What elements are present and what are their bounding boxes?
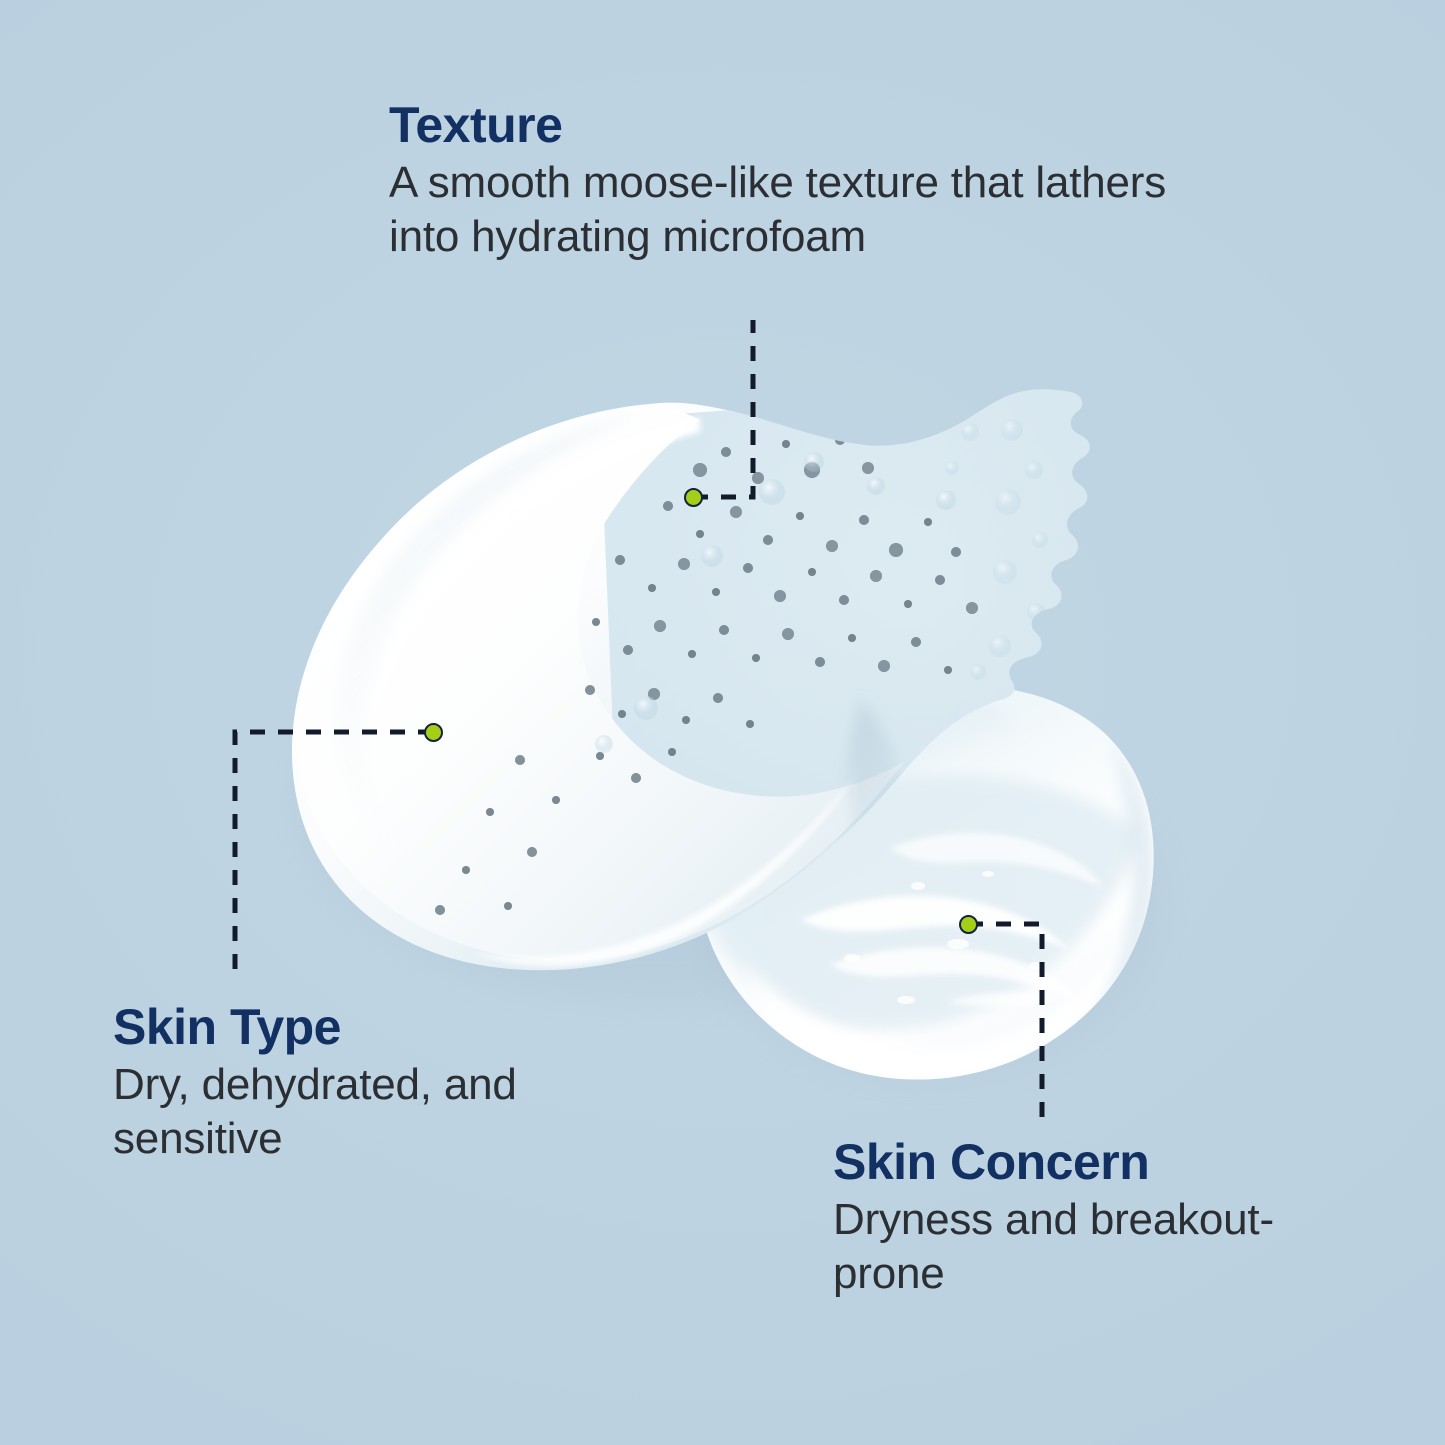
callout-texture-body: A smooth moose-like texture that lathers…	[389, 156, 1209, 263]
callout-skin-concern-heading: Skin Concern	[833, 1137, 1333, 1187]
callout-skin-type: Skin Type Dry, dehydrated, and sensitive	[113, 1002, 583, 1165]
infographic-canvas: Texture A smooth moose-like texture that…	[0, 0, 1445, 1445]
callout-texture-heading: Texture	[389, 100, 1209, 150]
marker-dot-skin-concern[interactable]	[959, 915, 978, 934]
marker-dot-skin-type[interactable]	[424, 723, 443, 742]
callout-skin-type-body: Dry, dehydrated, and sensitive	[113, 1058, 583, 1165]
callout-skin-type-heading: Skin Type	[113, 1002, 583, 1052]
marker-dot-texture[interactable]	[684, 488, 703, 507]
callout-skin-concern: Skin Concern Dryness and breakout-prone	[833, 1137, 1333, 1300]
callout-skin-concern-body: Dryness and breakout-prone	[833, 1193, 1333, 1300]
callout-texture: Texture A smooth moose-like texture that…	[389, 100, 1209, 263]
